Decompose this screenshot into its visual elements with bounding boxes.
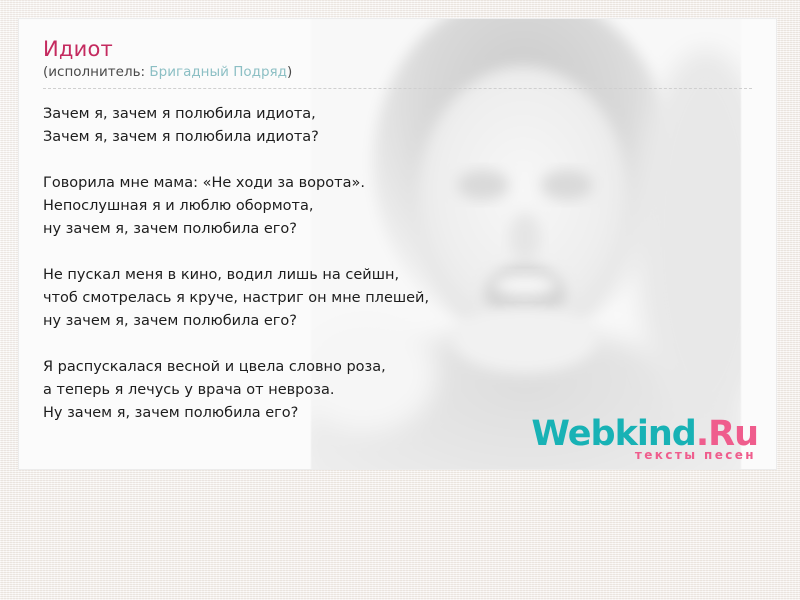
lyric-line-blank <box>43 333 752 356</box>
artist-line: (исполнитель: Бригадный Подряд) <box>43 63 752 82</box>
page-title: Идиот <box>43 37 752 61</box>
lyrics-card: Идиот (исполнитель: Бригадный Подряд) За… <box>18 18 777 470</box>
logo-wordmark: Webkind.Ru <box>531 416 758 452</box>
lyric-line: чтоб смотрелась я круче, настриг он мне … <box>43 287 752 310</box>
lyric-line: Говорила мне мама: «Не ходи за ворота». <box>43 172 752 195</box>
lyric-line: Зачем я, зачем я полюбила идиота, <box>43 103 752 126</box>
lyric-line: а теперь я лечусь у врача от невроза. <box>43 379 752 402</box>
lyric-line-blank <box>43 149 752 172</box>
lyric-line-blank <box>43 241 752 264</box>
lyric-line: Я распускалася весной и цвела словно роз… <box>43 356 752 379</box>
lyric-line: ну зачем я, зачем полюбила его? <box>43 310 752 333</box>
artist-link[interactable]: Бригадный Подряд <box>149 64 287 80</box>
artist-suffix-label: ) <box>287 64 292 80</box>
artist-prefix-label: (исполнитель: <box>43 64 149 80</box>
song-header: Идиот (исполнитель: Бригадный Подряд) <box>43 37 752 89</box>
lyric-line: Не пускал меня в кино, водил лишь на сей… <box>43 264 752 287</box>
lyric-line: ну зачем я, зачем полюбила его? <box>43 218 752 241</box>
lyric-line: Непослушная я и люблю обормота, <box>43 195 752 218</box>
site-logo[interactable]: Webkind.Ru тексты песен <box>531 416 758 461</box>
lyric-line: Зачем я, зачем я полюбила идиота? <box>43 126 752 149</box>
lyrics-body: Зачем я, зачем я полюбила идиота,Зачем я… <box>43 103 752 425</box>
